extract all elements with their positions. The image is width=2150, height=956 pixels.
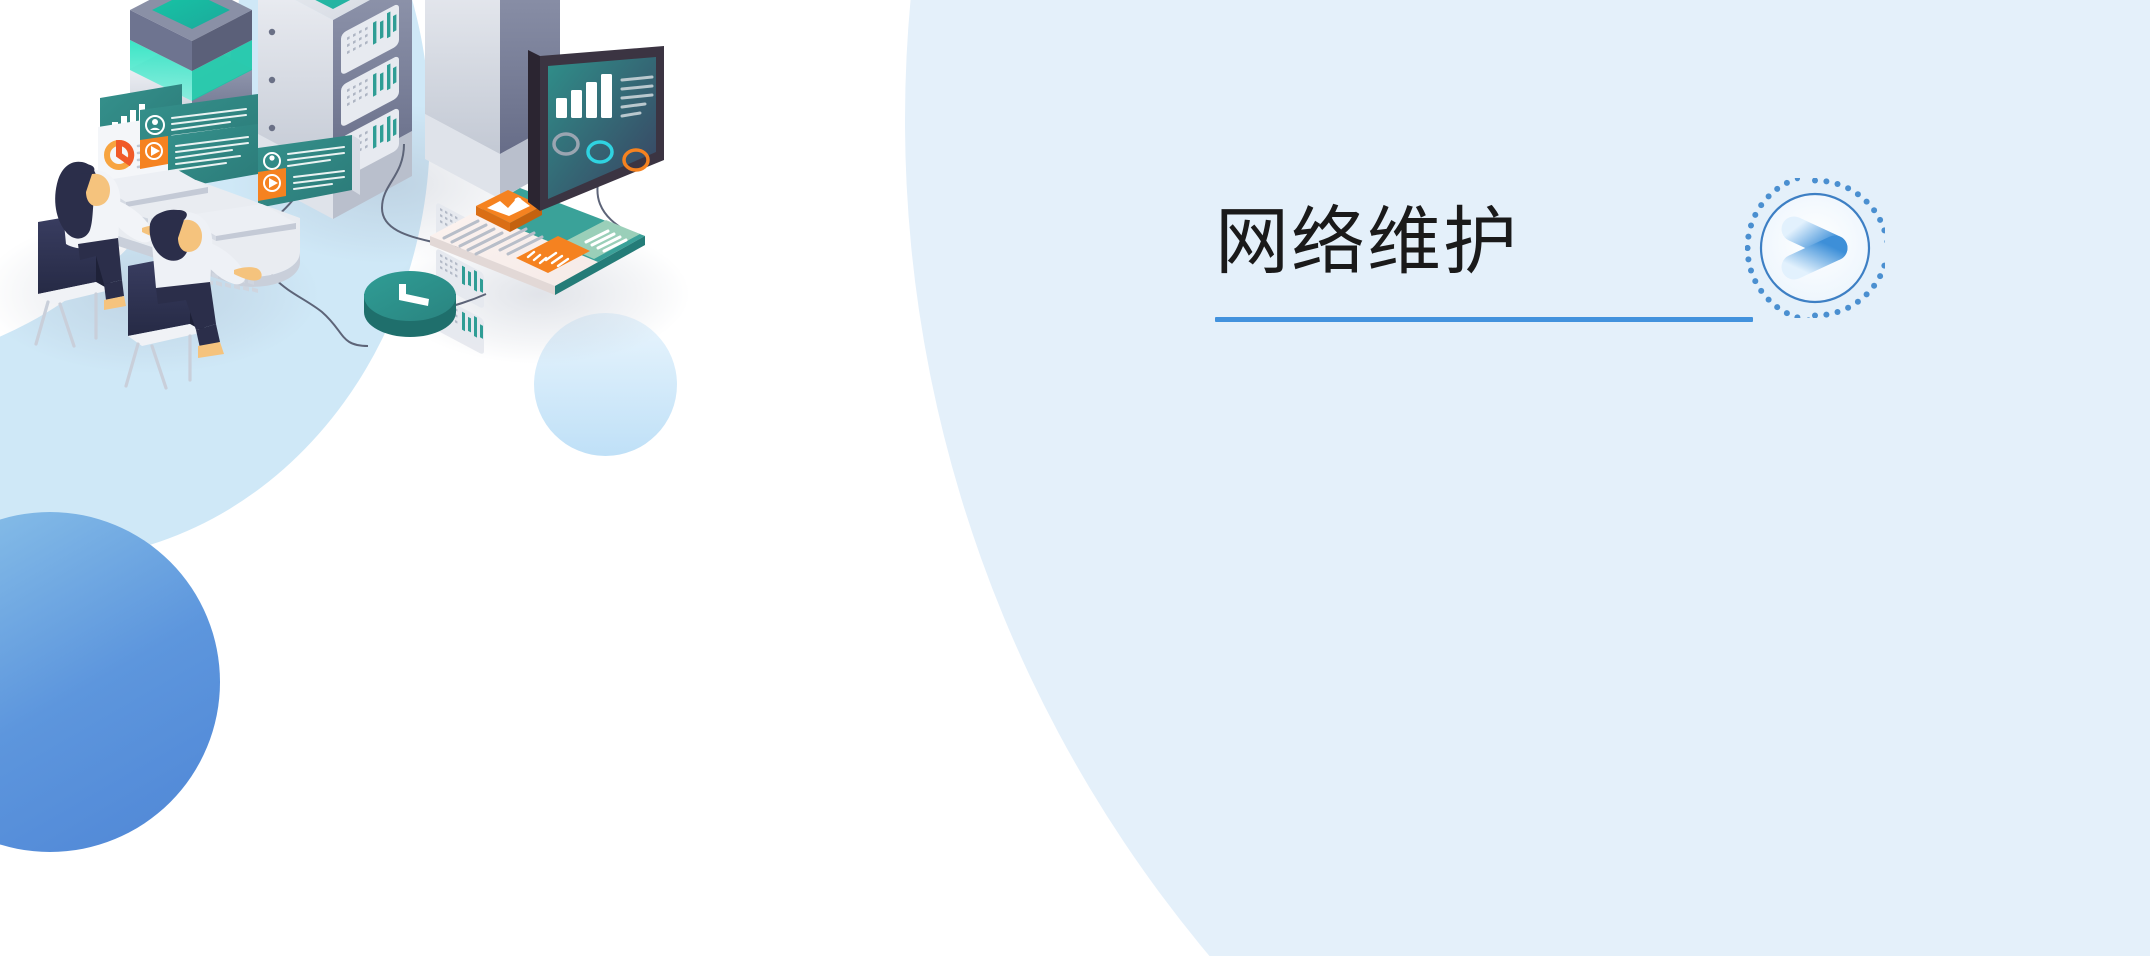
clock-disk xyxy=(364,271,456,337)
arrow-chevron-logo xyxy=(1745,178,1885,318)
headline-underline xyxy=(1215,317,1753,322)
banner-root: 网络维护 xyxy=(0,0,2150,956)
isometric-network-operations-illustration xyxy=(0,0,960,514)
dashboard-tablet xyxy=(528,46,664,211)
background-blue-circle xyxy=(0,512,220,852)
background-right-curve xyxy=(905,0,2150,956)
